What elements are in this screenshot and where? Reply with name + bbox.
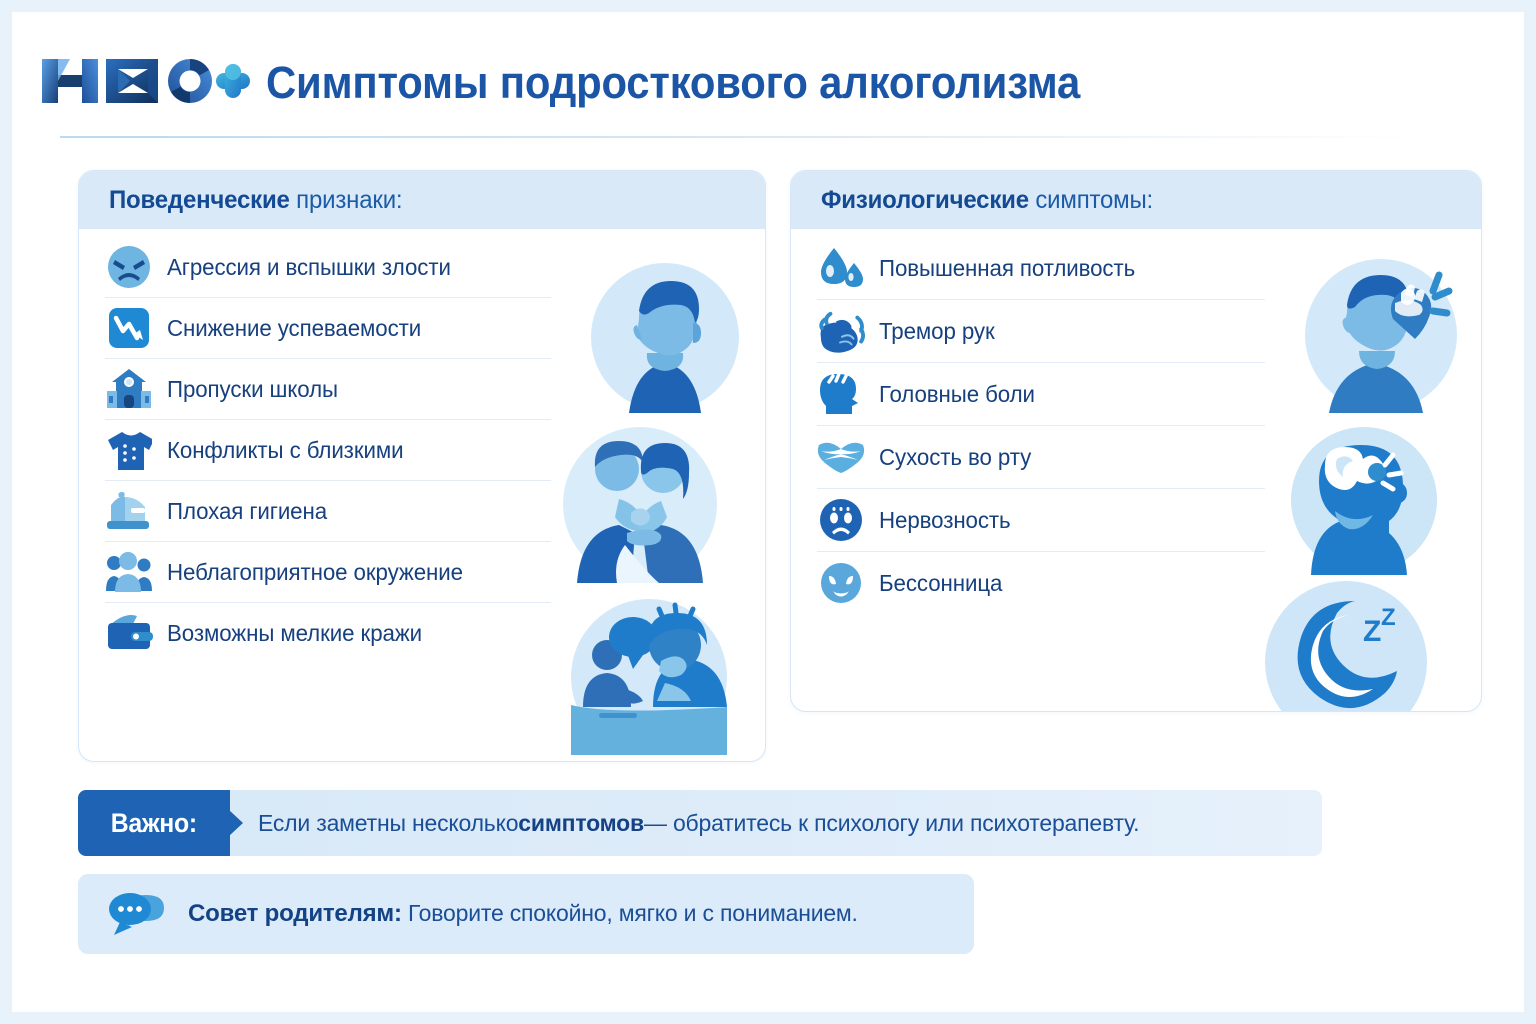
important-text-before: Если заметны несколько bbox=[258, 810, 518, 837]
advice-banner: Совет родителям: Говорите спокойно, мягк… bbox=[78, 874, 974, 954]
header-divider bbox=[60, 136, 1414, 138]
card-behavioral-title-strong: Поведенческие bbox=[109, 186, 290, 214]
card-physiological-header: Физиологические симптомы: bbox=[791, 171, 1481, 229]
list-item-label: Тремор рук bbox=[879, 318, 995, 345]
wallet-icon bbox=[105, 609, 153, 657]
card-physiological-title: Физиологические симптомы: bbox=[821, 186, 1153, 215]
infographic-page: Симптомы подросткового алкоголизма Повед… bbox=[0, 0, 1536, 1024]
sleepless-face-icon bbox=[817, 559, 865, 607]
school-building-icon bbox=[105, 365, 153, 413]
card-behavioral-header: Поведенческие признаки: bbox=[79, 171, 765, 229]
head-pain-icon bbox=[817, 370, 865, 418]
list-item[interactable]: Возможны мелкие кражи bbox=[105, 603, 765, 663]
important-banner: Важно: Если заметны несколько симптомов … bbox=[78, 790, 1322, 856]
list-item-label: Конфликты с близкими bbox=[167, 437, 403, 464]
list-item-label: Возможны мелкие кражи bbox=[167, 620, 422, 647]
list-item-label: Сухость во рту bbox=[879, 444, 1031, 471]
list-item[interactable]: Агрессия и вспышки злости bbox=[105, 237, 765, 297]
list-item-label: Бессонница bbox=[879, 570, 1002, 597]
advice-title: Совет родителям: bbox=[188, 900, 402, 927]
list-item-label: Нервозность bbox=[879, 507, 1011, 534]
tshirt-icon bbox=[105, 426, 153, 474]
card-physiological-body: Z Z Повыше bbox=[791, 229, 1481, 711]
list-item[interactable]: Головные боли bbox=[817, 363, 1481, 425]
card-behavioral: Поведенческие признаки: bbox=[78, 170, 766, 762]
list-item[interactable]: Неблагоприятное окружение bbox=[105, 542, 765, 602]
list-item[interactable]: Конфликты с близкими bbox=[105, 420, 765, 480]
list-item-label: Плохая гигиена bbox=[167, 498, 327, 525]
soap-icon bbox=[105, 487, 153, 535]
list-item[interactable]: Пропуски школы bbox=[105, 359, 765, 419]
advice-text: Совет родителям: Говорите спокойно, мягк… bbox=[188, 900, 858, 928]
important-text-after: — обратитесь к психологу или психотерапе… bbox=[644, 810, 1139, 837]
list-item[interactable]: Сухость во рту bbox=[817, 426, 1481, 488]
behavioral-list: Агрессия и вспышки злости Снижение успев… bbox=[79, 237, 765, 663]
card-physiological-title-strong: Физиологические bbox=[821, 186, 1029, 214]
list-item-label: Снижение успеваемости bbox=[167, 315, 421, 342]
list-item-label: Агрессия и вспышки злости bbox=[167, 254, 451, 281]
important-tab: Важно: bbox=[78, 790, 230, 856]
card-behavioral-title: Поведенческие признаки: bbox=[109, 186, 402, 215]
card-behavioral-title-light: признаки: bbox=[290, 186, 403, 214]
header: Симптомы подросткового алкоголизма bbox=[40, 34, 1496, 130]
chat-bubbles-icon bbox=[106, 888, 170, 940]
card-physiological-title-light: симптомы: bbox=[1029, 186, 1153, 214]
svg-text:Z: Z bbox=[1363, 615, 1381, 648]
worried-face-icon bbox=[817, 496, 865, 544]
dry-lips-icon bbox=[817, 433, 865, 481]
list-item-label: Повышенная потливость bbox=[879, 255, 1135, 282]
card-physiological: Физиологические симптомы: bbox=[790, 170, 1482, 712]
water-drops-icon bbox=[817, 244, 865, 292]
card-behavioral-body: Агрессия и вспышки злости Снижение успев… bbox=[79, 229, 765, 761]
page-title: Симптомы подросткового алкоголизма bbox=[266, 60, 1080, 105]
important-text-strong: симптомов bbox=[518, 810, 644, 837]
important-tab-label: Важно: bbox=[111, 808, 197, 839]
list-item[interactable]: Повышенная потливость bbox=[817, 237, 1481, 299]
angry-face-icon bbox=[105, 243, 153, 291]
important-text: Если заметны несколько симптомов — обрат… bbox=[230, 790, 1139, 856]
list-item-label: Пропуски школы bbox=[167, 376, 338, 403]
infographic-canvas: Симптомы подросткового алкоголизма Повед… bbox=[12, 12, 1524, 1012]
list-item[interactable]: Плохая гигиена bbox=[105, 481, 765, 541]
declining-chart-icon bbox=[105, 304, 153, 352]
shaking-hand-icon bbox=[817, 307, 865, 355]
advice-body: Говорите спокойно, мягко и с пониманием. bbox=[402, 900, 858, 926]
list-item[interactable]: Тремор рук bbox=[817, 300, 1481, 362]
neo-plus-logo-icon bbox=[40, 54, 252, 110]
list-item[interactable]: Бессонница bbox=[817, 552, 1481, 614]
physiological-list: Повышенная потливость bbox=[791, 237, 1481, 614]
list-item-label: Головные боли bbox=[879, 381, 1035, 408]
list-item[interactable]: Снижение успеваемости bbox=[105, 298, 765, 358]
group-people-icon bbox=[105, 548, 153, 596]
list-item-label: Неблагоприятное окружение bbox=[167, 559, 463, 586]
list-item[interactable]: Нервозность bbox=[817, 489, 1481, 551]
